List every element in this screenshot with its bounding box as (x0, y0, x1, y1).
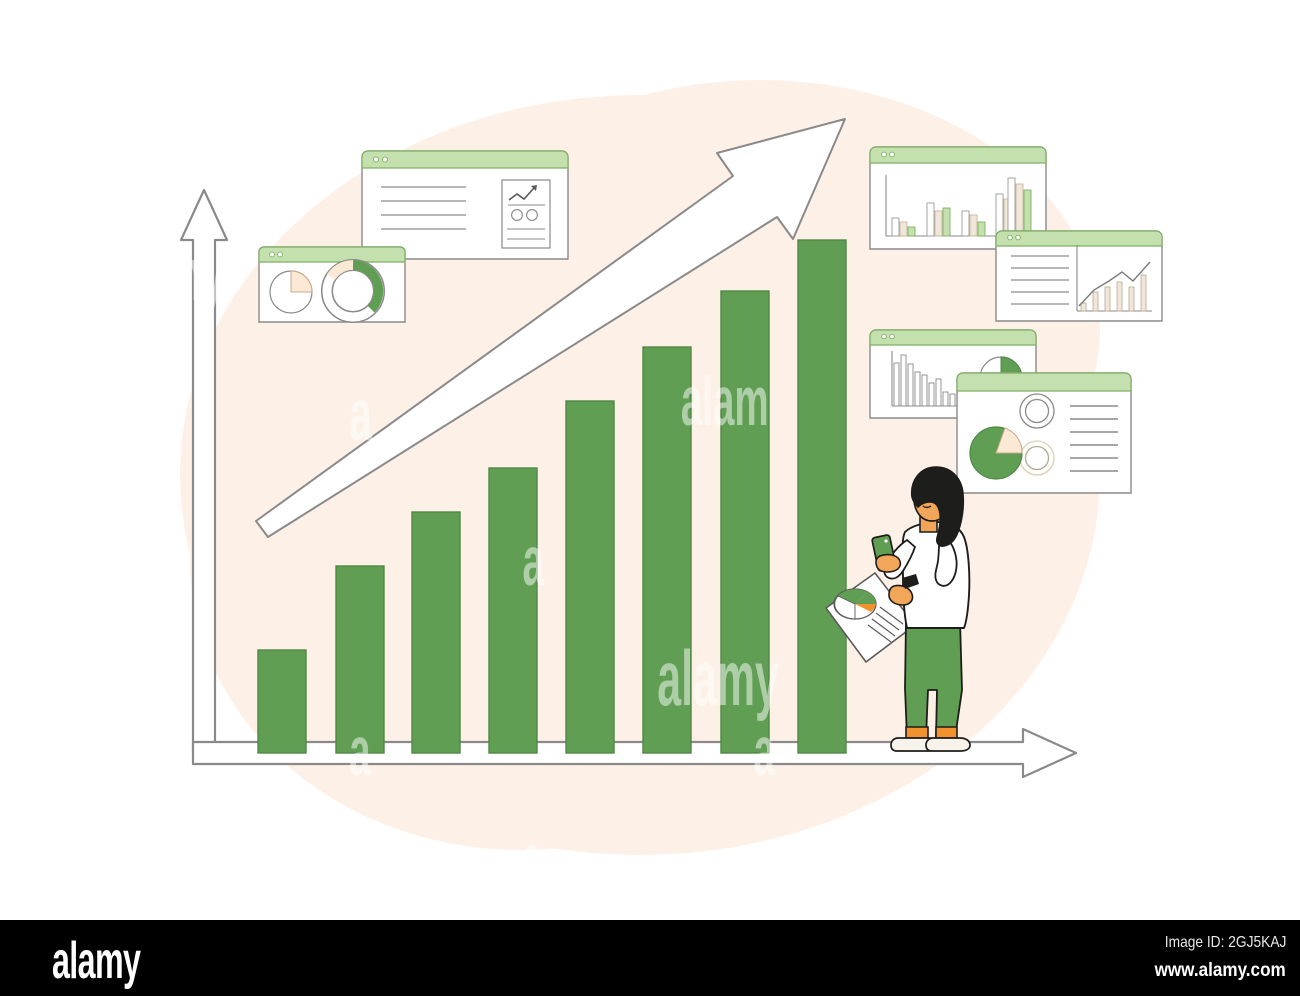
svg-text:alam: alam (681, 362, 769, 440)
svg-text:a: a (349, 712, 371, 790)
sheet-pie (834, 589, 876, 619)
window-dot (890, 152, 895, 157)
ankle-right (936, 727, 957, 738)
window-dot (1016, 235, 1021, 240)
svg-text:a: a (523, 522, 545, 600)
window-line-report[interactable] (996, 231, 1162, 321)
hand-left (889, 585, 913, 605)
window-dot (890, 334, 895, 339)
window-titlebar (870, 147, 1046, 163)
svg-text:alam: alam (1097, 613, 1190, 696)
pie-chart (270, 271, 312, 313)
svg-text:a: a (349, 373, 372, 456)
eye-right (935, 496, 938, 499)
bar-3 (412, 512, 460, 753)
illustration-canvas: alamy a alam a alamy a a alam a alamy Im… (0, 0, 1300, 996)
ankle-left (906, 727, 928, 738)
window-dot (373, 157, 378, 162)
window-pie-donut[interactable] (259, 247, 405, 323)
window-dot (1008, 235, 1013, 240)
document-card (502, 180, 550, 248)
bar-5 (566, 401, 614, 753)
bar-1 (258, 650, 306, 753)
svg-text:alamy: alamy (657, 636, 779, 723)
window-kpi[interactable] (957, 373, 1131, 493)
hand-right (876, 555, 900, 572)
window-titlebar (362, 151, 568, 168)
window-titlebar (957, 373, 1131, 391)
shoe-right (926, 738, 970, 751)
window-titlebar (996, 231, 1162, 246)
svg-text:a: a (754, 712, 776, 790)
image-id-label: Image ID: 2GJ5KAJ (1164, 934, 1286, 952)
eye-left (923, 496, 926, 499)
website-label: www.alamy.com (1155, 960, 1286, 982)
bar-8 (798, 240, 846, 753)
bar-4 (489, 468, 537, 753)
alamy-footer-bar: alamy Image ID: 2GJ5KAJ www.alamy.com (0, 920, 1300, 996)
window-dot (882, 334, 887, 339)
window-text-report[interactable] (362, 151, 568, 259)
window-dot (382, 157, 387, 162)
window-dot (270, 252, 275, 257)
pie-chart (970, 427, 1022, 479)
business-growth-illustration: alamy a alam a alamy a a alam a (0, 0, 1300, 920)
alamy-logo: alamy (52, 934, 140, 988)
svg-text:a: a (523, 822, 543, 894)
window-titlebar (870, 330, 1036, 345)
svg-text:alamy: alamy (109, 233, 224, 316)
window-dot (882, 152, 887, 157)
window-dot (278, 252, 283, 257)
